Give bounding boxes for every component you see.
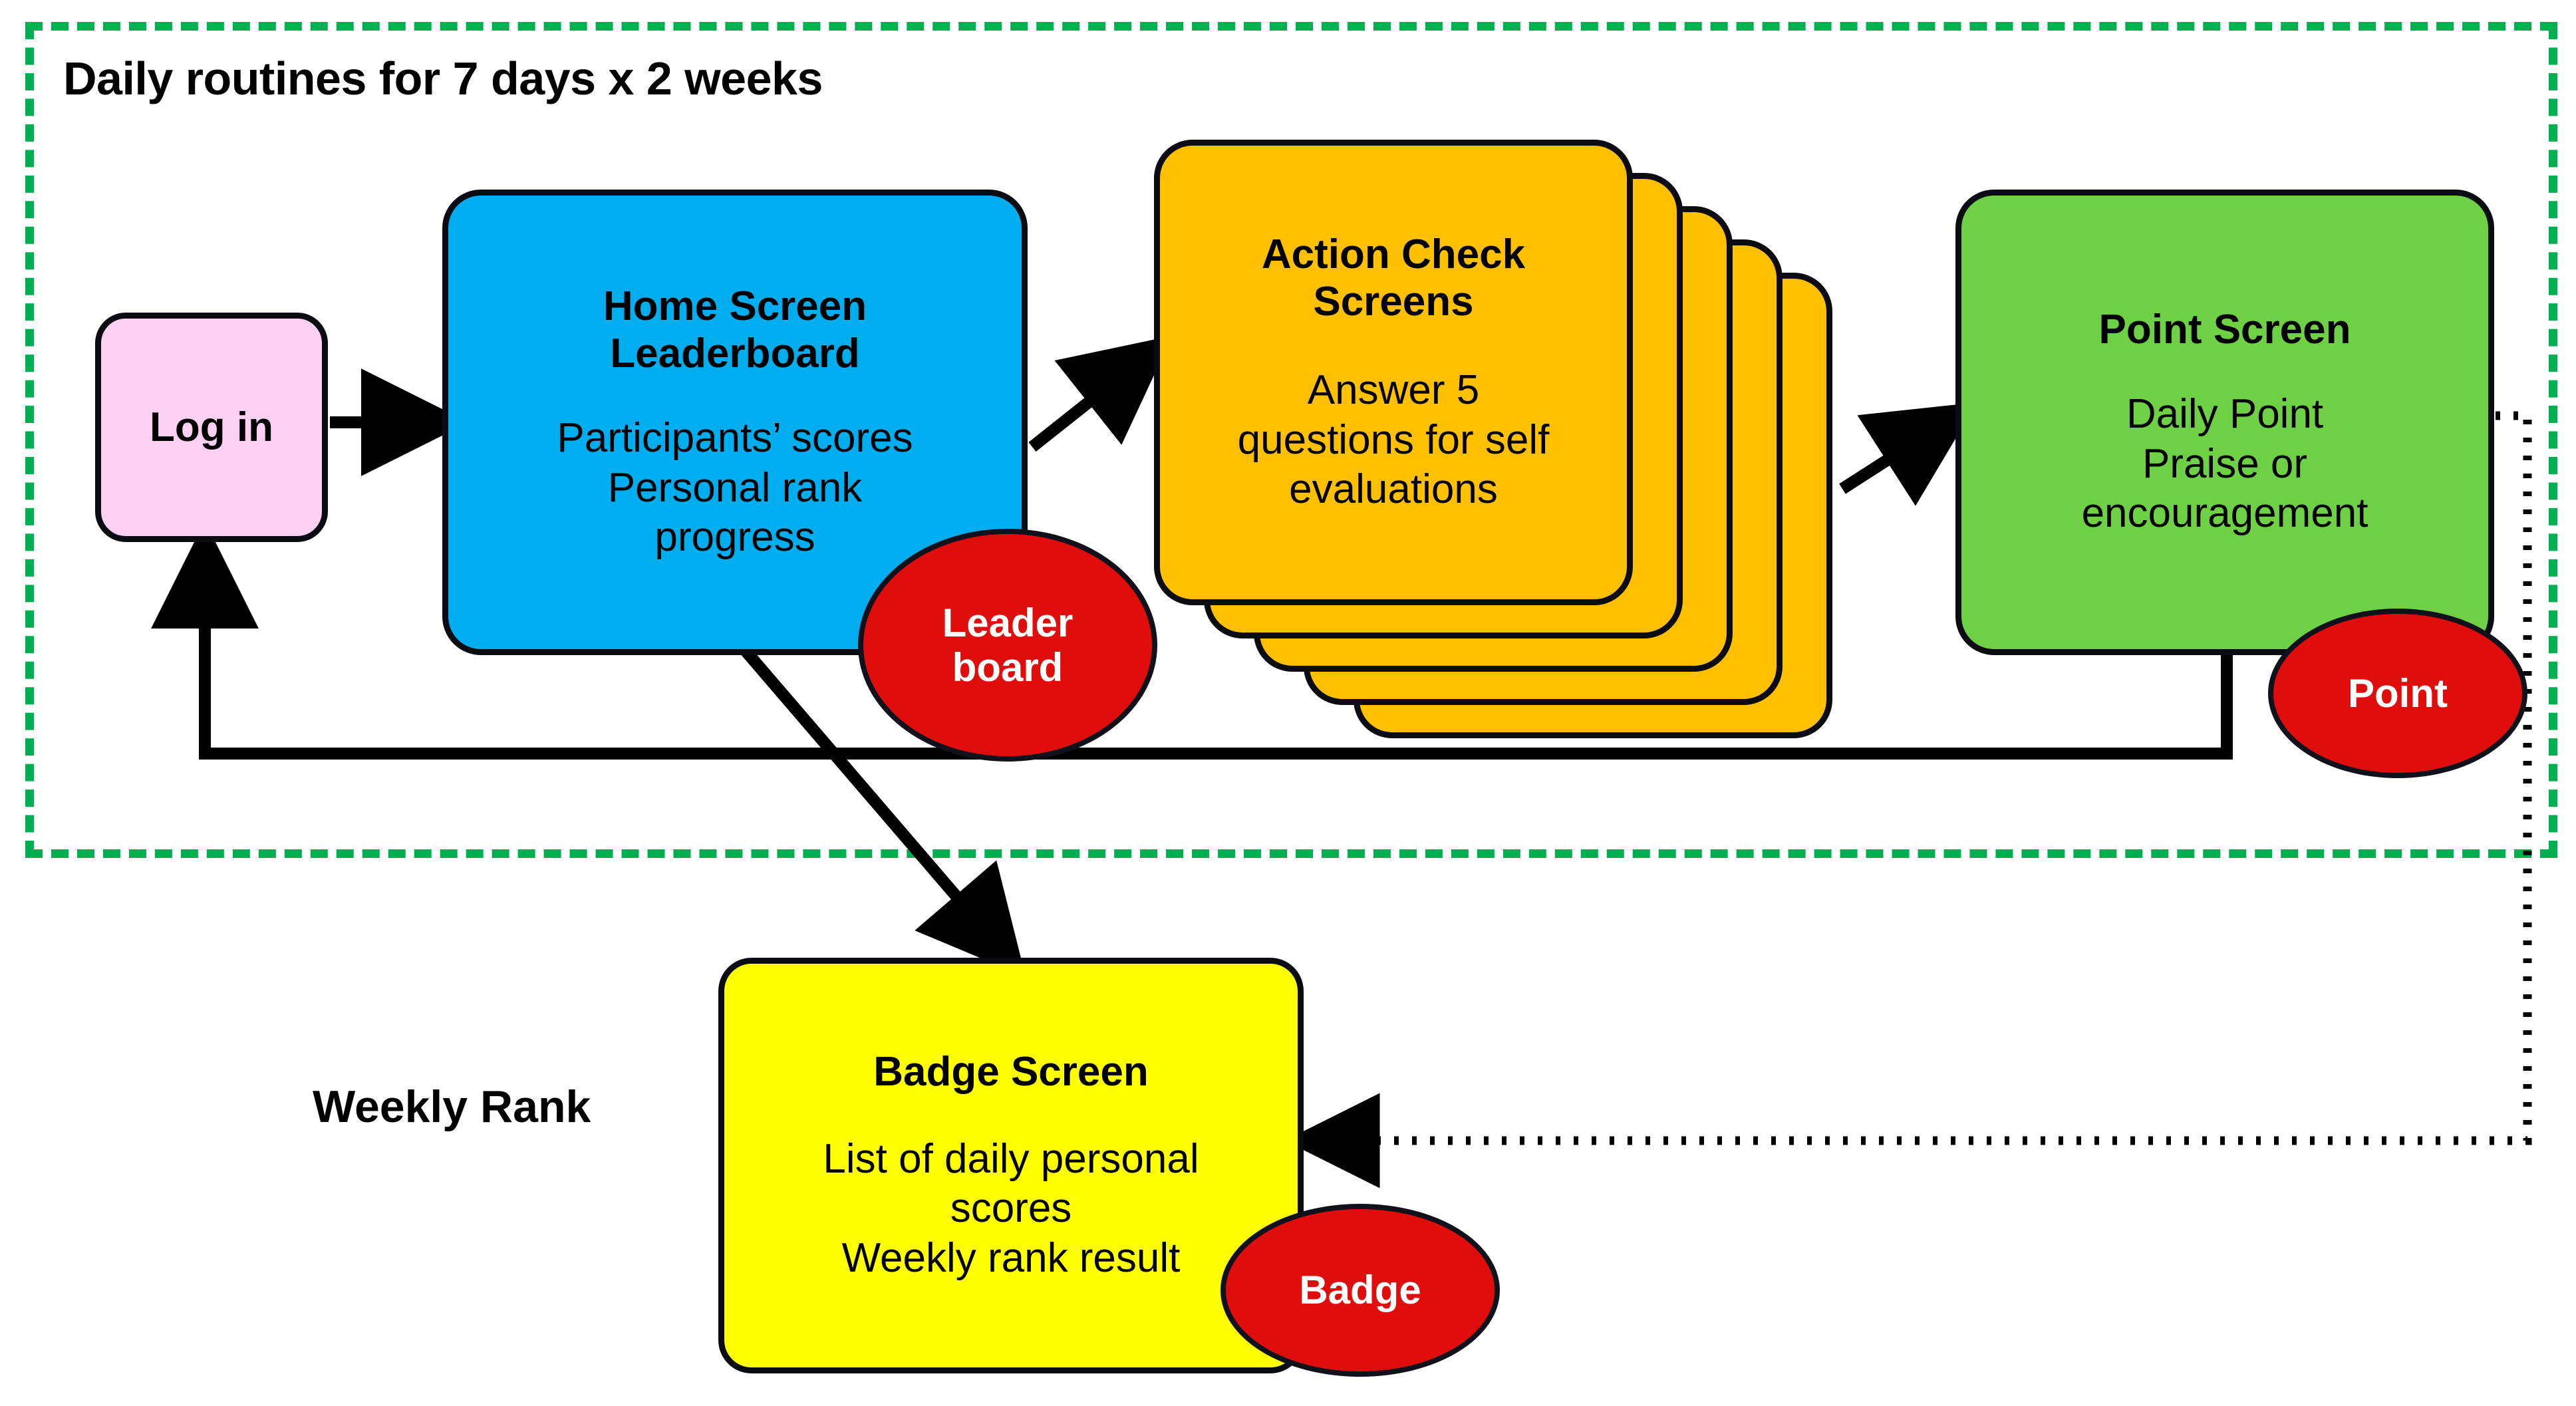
node-point-screen-title-line1: Point Screen bbox=[2099, 306, 2351, 354]
weekly-rank-label: Weekly Rank bbox=[313, 1081, 591, 1133]
token-point[interactable]: Point bbox=[2268, 609, 2527, 778]
token-leaderboard[interactable]: Leader board bbox=[858, 529, 1157, 762]
node-home-screen-body-line3: progress bbox=[557, 513, 913, 562]
node-action-check-title-line2: Screens bbox=[1262, 278, 1525, 326]
node-point-screen-title: Point Screen bbox=[2099, 306, 2351, 354]
node-home-screen-title-line1: Home Screen bbox=[603, 283, 867, 331]
node-action-check-screens-stack[interactable]: Action Check Screens Answer 5 questions … bbox=[1154, 140, 1859, 692]
node-point-screen[interactable]: Point Screen Daily Point Praise or encou… bbox=[1955, 190, 2494, 655]
node-home-screen-body-line1: Participants’ scores bbox=[557, 414, 913, 463]
node-badge-screen[interactable]: Badge Screen List of daily personal scor… bbox=[718, 958, 1304, 1373]
node-badge-screen-body-line2: scores bbox=[823, 1184, 1199, 1233]
node-badge-screen-body-line1: List of daily personal bbox=[823, 1135, 1199, 1184]
node-point-screen-body-line2: Praise or bbox=[2082, 440, 2368, 489]
node-log-in-title: Log in bbox=[150, 404, 273, 452]
token-point-line1: Point bbox=[2348, 671, 2448, 716]
node-badge-screen-title-line1: Badge Screen bbox=[873, 1048, 1149, 1096]
node-action-check-body-line2: questions for self bbox=[1238, 416, 1550, 465]
token-badge[interactable]: Badge bbox=[1220, 1204, 1500, 1377]
node-badge-screen-title: Badge Screen bbox=[873, 1048, 1149, 1096]
diagram-canvas: Daily routines for 7 days x 2 weeks bbox=[0, 0, 2576, 1406]
token-leaderboard-line2: board bbox=[942, 645, 1073, 690]
node-badge-screen-body: List of daily personal scores Weekly ran… bbox=[823, 1135, 1199, 1283]
node-badge-screen-body-line3: Weekly rank result bbox=[823, 1234, 1199, 1283]
token-leaderboard-line1: Leader bbox=[942, 601, 1073, 645]
node-point-screen-body: Daily Point Praise or encouragement bbox=[2082, 390, 2368, 538]
node-home-screen-title: Home Screen Leaderboard bbox=[603, 283, 867, 378]
node-point-screen-body-line3: encouragement bbox=[2082, 489, 2368, 538]
node-action-check-body-line3: evaluations bbox=[1238, 465, 1550, 514]
token-badge-line1: Badge bbox=[1299, 1268, 1421, 1312]
token-leaderboard-text: Leader board bbox=[942, 601, 1073, 690]
token-badge-text: Badge bbox=[1299, 1268, 1421, 1312]
node-point-screen-body-line1: Daily Point bbox=[2082, 390, 2368, 439]
node-action-check-body: Answer 5 questions for self evaluations bbox=[1238, 366, 1550, 514]
section-title: Daily routines for 7 days x 2 weeks bbox=[63, 52, 823, 105]
node-action-check-body-line1: Answer 5 bbox=[1238, 366, 1550, 415]
node-home-screen-body: Participants’ scores Personal rank progr… bbox=[557, 414, 913, 562]
node-log-in[interactable]: Log in bbox=[95, 313, 328, 542]
node-home-screen-body-line2: Personal rank bbox=[557, 464, 913, 513]
action-check-card-1[interactable]: Action Check Screens Answer 5 questions … bbox=[1154, 140, 1633, 605]
token-point-text: Point bbox=[2348, 671, 2448, 716]
node-home-screen-title-line2: Leaderboard bbox=[603, 330, 867, 378]
node-action-check-title-line1: Action Check bbox=[1262, 231, 1525, 279]
node-action-check-title: Action Check Screens bbox=[1262, 231, 1525, 327]
